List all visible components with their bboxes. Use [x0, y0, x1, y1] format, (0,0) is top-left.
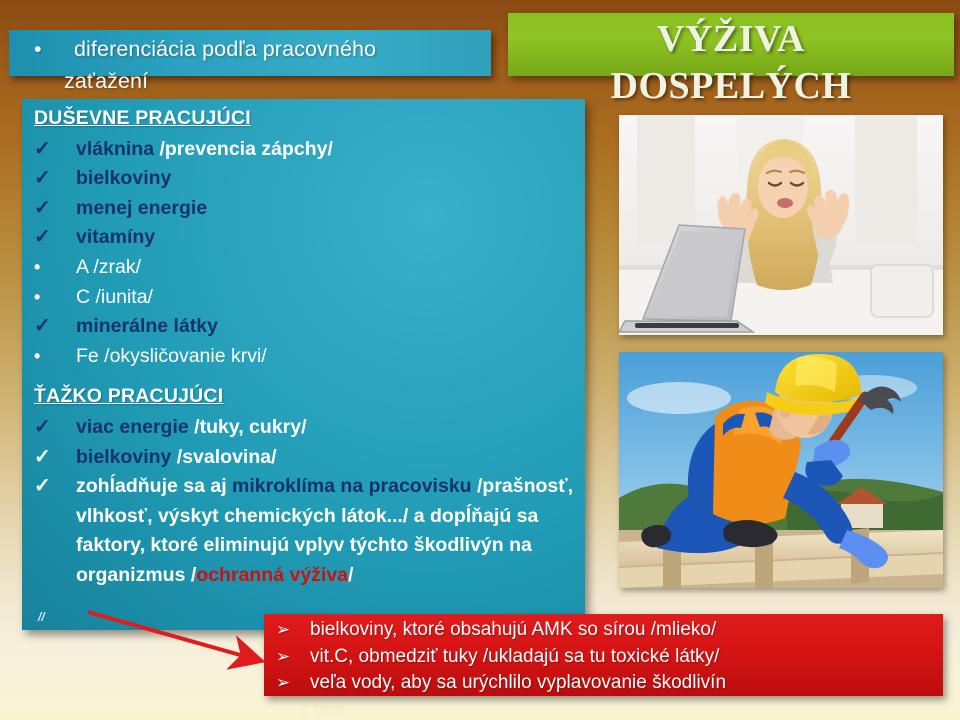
section-heading-tazko: ŤAŽKO PRACUJÚCI [30, 382, 590, 412]
red-callout-overflow-text: z tela [300, 697, 345, 720]
top-bullet-line1: diferenciácia podľa pracovného [74, 37, 376, 61]
red-callout-label: veľa vody, aby sa urýchlilo vyplavovanie… [310, 670, 726, 697]
check-icon: ✓ [30, 164, 76, 194]
list-item-label: menej energie [76, 194, 590, 224]
list-item: •Fe /okysličovanie krvi/ [30, 342, 590, 372]
text-run: viac energie [76, 416, 194, 438]
check-icon: ✓ [30, 223, 76, 253]
arrow-bullet-icon: ➢ [276, 644, 310, 671]
text-run: A /zrak/ [76, 256, 141, 278]
slide-canvas: •diferenciácia podľa pracovného zaťažení… [0, 0, 960, 720]
text-run: /prevencia zápchy/ [159, 138, 332, 160]
red-callout-label: vit.C, obmedziť tuky /ukladajú sa tu tox… [310, 644, 719, 671]
top-bullet-text: •diferenciácia podľa pracovného zaťažení [24, 33, 494, 97]
list-item: ✓bielkoviny [30, 164, 590, 194]
check-icon: ✓ [30, 443, 76, 473]
list-item-label: bielkoviny /svalovina/ [76, 443, 590, 473]
list-item: •C /iunita/ [30, 283, 590, 313]
title-line-1: VÝŽIVA [508, 16, 954, 63]
check-icon: ✓ [30, 194, 76, 224]
list-item-label: viac energie /tuky, cukry/ [76, 413, 590, 443]
list-item-label: vitamíny [76, 223, 590, 253]
list-item: ✓menej energie [30, 194, 590, 224]
red-callout-item: ➢bielkoviny, ktoré obsahujú AMK so sírou… [276, 617, 956, 644]
arrow-bullet-icon: ➢ [276, 670, 310, 697]
text-run: / [348, 564, 353, 586]
text-run: minerálne látky [76, 315, 218, 337]
text-run: Fe /okysličovanie krvi/ [76, 345, 267, 367]
list-item-label: Fe /okysličovanie krvi/ [76, 342, 590, 372]
list-item: •A /zrak/ [30, 253, 590, 283]
list-item-label: bielkoviny [76, 164, 590, 194]
list-item: ✓vláknina /prevencia zápchy/ [30, 135, 590, 165]
check-icon: ✓ [30, 472, 76, 502]
text-run: zohĺadňuje sa aj [76, 475, 232, 497]
text-run: /tuky, cukry/ [194, 416, 306, 438]
construction-worker-illustration [619, 352, 943, 588]
title-line-2: DOSPELÝCH [508, 63, 954, 110]
red-callout-item: ➢veľa vody, aby sa urýchlilo vyplavovani… [276, 670, 956, 697]
list-item: ✓minerálne látky [30, 312, 590, 342]
text-run: bielkoviny [76, 446, 177, 468]
top-bullet-line2: zaťažení [24, 65, 494, 97]
list-item-label: minerálne látky [76, 312, 590, 342]
photo-construction-worker [619, 352, 943, 588]
red-callout-item: ➢vit.C, obmedziť tuky /ukladajú sa tu to… [276, 644, 956, 671]
list-item-label: vláknina /prevencia zápchy/ [76, 135, 590, 165]
check-icon: ✓ [30, 413, 76, 443]
bullet-icon: • [30, 253, 76, 283]
check-icon: ✓ [30, 312, 76, 342]
arrow-bullet-icon: ➢ [276, 617, 310, 644]
list-item: ✓vitamíny [30, 223, 590, 253]
bullet-icon: • [30, 342, 76, 372]
text-run: vláknina [76, 138, 159, 160]
page-title: VÝŽIVA DOSPELÝCH [508, 16, 954, 110]
list-duchovne: ✓vláknina /prevencia zápchy/✓bielkoviny✓… [30, 135, 590, 372]
photo-frustrated-woman-at-laptop [619, 115, 943, 335]
list-item-label: A /zrak/ [76, 253, 590, 283]
text-run: /svalovina/ [177, 446, 277, 468]
text-run: vitamíny [76, 226, 155, 248]
list-item: ✓viac energie /tuky, cukry/ [30, 413, 590, 443]
text-run: menej energie [76, 197, 207, 219]
frustrated-woman-illustration [619, 115, 943, 335]
list-item: ✓ bielkoviny /svalovina/ [30, 443, 590, 473]
bullet-icon: • [30, 283, 76, 313]
text-run: mikroklíma na pracovisku [232, 475, 472, 497]
text-run: bielkoviny [76, 167, 171, 189]
red-callout-list: ➢bielkoviny, ktoré obsahujú AMK so sírou… [276, 617, 956, 697]
list-item: ✓zohĺadňuje sa aj mikroklíma na pracovis… [30, 472, 590, 590]
list-tazko: ✓viac energie /tuky, cukry/✓ bielkoviny … [30, 413, 590, 591]
bullet-glyph: • [24, 33, 74, 65]
panel-footnote: // [38, 610, 45, 624]
list-item-label: C /iunita/ [76, 283, 590, 313]
text-run: ochranná výživa [196, 564, 348, 586]
list-item-label: zohĺadňuje sa aj mikroklíma na pracovisk… [76, 472, 590, 590]
check-icon: ✓ [30, 135, 76, 165]
section-heading-duchovne: DUŠEVNE PRACUJÚCI [30, 104, 590, 134]
red-callout-label: bielkoviny, ktoré obsahujú AMK so sírou … [310, 617, 716, 644]
text-run: C /iunita/ [76, 286, 153, 308]
content-panel-body: DUŠEVNE PRACUJÚCI ✓vláknina /prevencia z… [30, 104, 590, 591]
